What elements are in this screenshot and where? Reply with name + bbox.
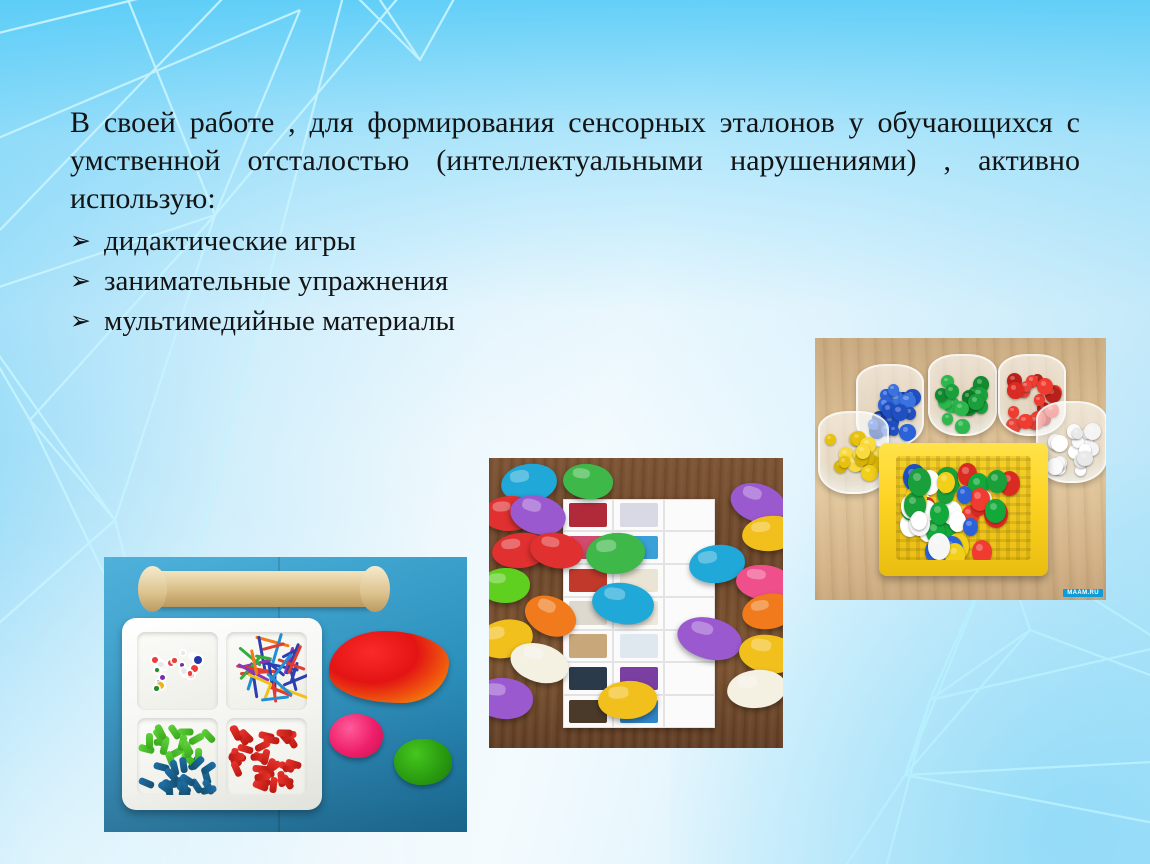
tray-compartment-beads [137, 632, 218, 710]
bottle-cap [911, 511, 927, 530]
bottle-cap [963, 518, 978, 536]
tray-compartment-red-pasta [226, 718, 307, 796]
pasta-piece [229, 753, 245, 761]
bottle-cap [942, 413, 953, 425]
material-swatch [569, 503, 606, 526]
bullet-label: дидактические игры [104, 222, 356, 261]
bottle-cap [954, 401, 969, 417]
methods-bullet-list: ➢ дидактические игры ➢ занимательные упр… [70, 222, 1080, 342]
red-orange-playdough [329, 631, 449, 703]
material-swatch [620, 503, 657, 526]
yellow-sorting-basket [879, 443, 1048, 577]
bottle-cap [930, 502, 949, 525]
watermark-badge: MAAM.RU [1063, 589, 1103, 597]
bottle-cap [928, 533, 950, 560]
arrow-bullet-icon: ➢ [70, 302, 104, 341]
pink-playdough-ball [329, 714, 383, 758]
tray-compartment-green-pasta [137, 718, 218, 796]
bottle-cap [972, 540, 993, 561]
mixed-caps-layer [896, 456, 1031, 560]
bottle-cap [899, 424, 915, 441]
bottle-cap [1047, 458, 1063, 474]
pasta-piece [146, 733, 153, 749]
bottle-cap [945, 384, 959, 399]
tray-compartment-sticks [226, 632, 307, 710]
bottle-cap [908, 468, 931, 495]
bottle-cap [957, 486, 972, 504]
card-cell [563, 630, 614, 663]
card-cell [664, 662, 715, 695]
bottle-cap [839, 456, 851, 468]
bottle-caps-sorting-photo: MAAM.RU [815, 338, 1106, 600]
bead [158, 662, 163, 667]
bottle-cap [1008, 406, 1020, 418]
pasta-piece [200, 785, 217, 796]
bottle-cap [1037, 378, 1053, 395]
material-swatch [569, 634, 606, 657]
bottle-cap [1084, 423, 1101, 440]
basket-interior [896, 456, 1031, 560]
bead [191, 665, 198, 672]
pasta-piece [276, 729, 292, 736]
bottle-cap [889, 425, 900, 436]
slide-text-block: В своей работе , для формирования сенсор… [70, 104, 1080, 342]
bullet-label: занимательные упражнения [104, 262, 448, 301]
bottle-cap [1051, 435, 1068, 452]
sensory-balloons-photo [489, 458, 783, 748]
presentation-slide: В своей работе , для формирования сенсор… [0, 0, 1150, 864]
list-item: ➢ мультимедийные материалы [70, 302, 1080, 342]
bottle-cap [937, 472, 954, 493]
pasta-piece [178, 756, 187, 773]
bead [180, 663, 184, 667]
bead [160, 675, 166, 681]
list-item: ➢ занимательные упражнения [70, 262, 1080, 302]
card-cell [664, 695, 715, 728]
bottle-cap [856, 444, 870, 458]
bead [172, 658, 177, 663]
arrow-bullet-icon: ➢ [70, 262, 104, 301]
list-item: ➢ дидактические игры [70, 222, 1080, 262]
green-playdough-ball [394, 739, 452, 786]
pasta-piece [138, 777, 155, 790]
bottle-cap [1007, 382, 1023, 399]
bullet-label: мультимедийные материалы [104, 302, 455, 341]
arrow-bullet-icon: ➢ [70, 222, 104, 261]
card-cell [664, 499, 715, 532]
bead [154, 686, 159, 691]
material-swatch [620, 634, 657, 657]
bead [181, 651, 185, 655]
container-green-caps [928, 354, 996, 437]
four-compartment-tray [122, 618, 322, 811]
bottle-cap [1077, 451, 1093, 467]
bottle-cap [1018, 414, 1033, 429]
bottle-cap [861, 465, 877, 481]
intro-paragraph: В своей работе , для формирования сенсор… [70, 104, 1080, 218]
card-cell [613, 630, 664, 663]
rolling-pin [151, 571, 376, 607]
bottle-cap [955, 419, 970, 435]
material-swatch [569, 667, 606, 690]
card-cell [613, 499, 664, 532]
card-cell [563, 499, 614, 532]
bead [152, 657, 158, 663]
bottle-cap [825, 434, 836, 445]
tray-with-sorting-materials-photo [104, 557, 467, 832]
bottle-cap [987, 470, 1007, 494]
bead [194, 656, 202, 664]
